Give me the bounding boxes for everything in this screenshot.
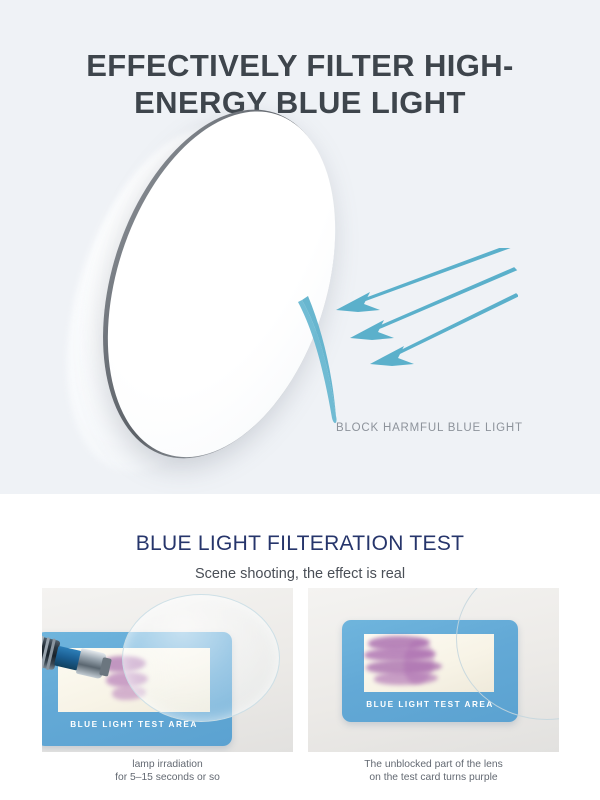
filtration-test-section: BLUE LIGHT FILTERATION TEST Scene shooti…: [0, 494, 600, 800]
caption-left: lamp irradiation for 5–15 seconds or so: [42, 758, 293, 784]
ray-2: [350, 268, 516, 340]
photo-lamp-irradiation[interactable]: BLUE LIGHT TEST AREA: [42, 588, 293, 752]
hero-section: EFFECTIVELY FILTER HIGH- ENERGY BLUE LIG…: [0, 0, 600, 494]
block-harmful-blue-light-label: BLOCK HARMFUL BLUE LIGHT: [336, 422, 523, 434]
blue-light-rays-icon: [288, 248, 518, 438]
photo-gallery: BLUE LIGHT TEST AREA: [42, 588, 558, 752]
photo-lens-disc: [122, 594, 280, 722]
lens-illustration: BLOCK HARMFUL BLUE LIGHT: [0, 100, 600, 494]
section-subtitle: Scene shooting, the effect is real: [0, 566, 600, 582]
ray-3: [370, 294, 518, 366]
product-infographic-page: EFFECTIVELY FILTER HIGH- ENERGY BLUE LIG…: [0, 0, 600, 800]
section-title: BLUE LIGHT FILTERATION TEST: [0, 532, 600, 556]
caption-right: The unblocked part of the lens on the te…: [308, 758, 559, 784]
photo-captions: lamp irradiation for 5–15 seconds or so …: [42, 758, 558, 794]
lens-gloss-highlight: [141, 115, 308, 314]
photo-result-purple[interactable]: BLUE LIGHT TEST AREA: [308, 588, 559, 752]
